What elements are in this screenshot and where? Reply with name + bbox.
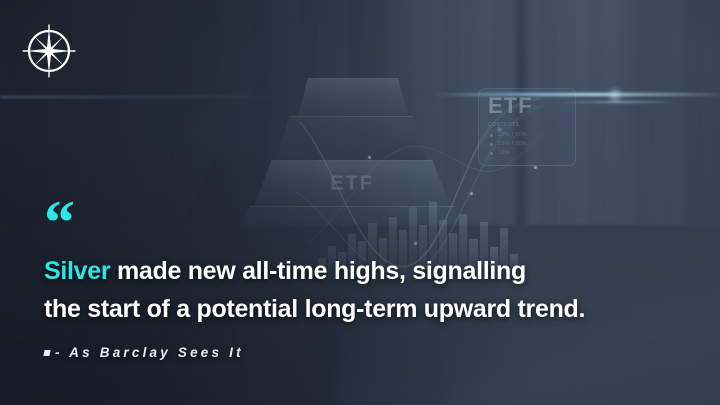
quote-text: Silver made new all-time highs, signalli… xyxy=(44,252,664,328)
quote-line-two: the start of a potential long-term upwar… xyxy=(44,295,585,323)
quote-attribution: - As Barclay Sees It xyxy=(44,345,244,360)
attribution-tick-icon xyxy=(43,350,50,356)
quote-card: ETF xyxy=(0,0,720,405)
quote-highlight-word: Silver xyxy=(44,257,110,285)
compass-rose-icon[interactable] xyxy=(22,24,76,78)
attribution-text: - As Barclay Sees It xyxy=(55,345,244,360)
open-quote-mark: “ xyxy=(44,192,73,254)
quote-line-one-rest: made new all-time highs, signalling xyxy=(110,257,526,285)
content-layer: “ Silver made new all-time highs, signal… xyxy=(0,0,720,405)
